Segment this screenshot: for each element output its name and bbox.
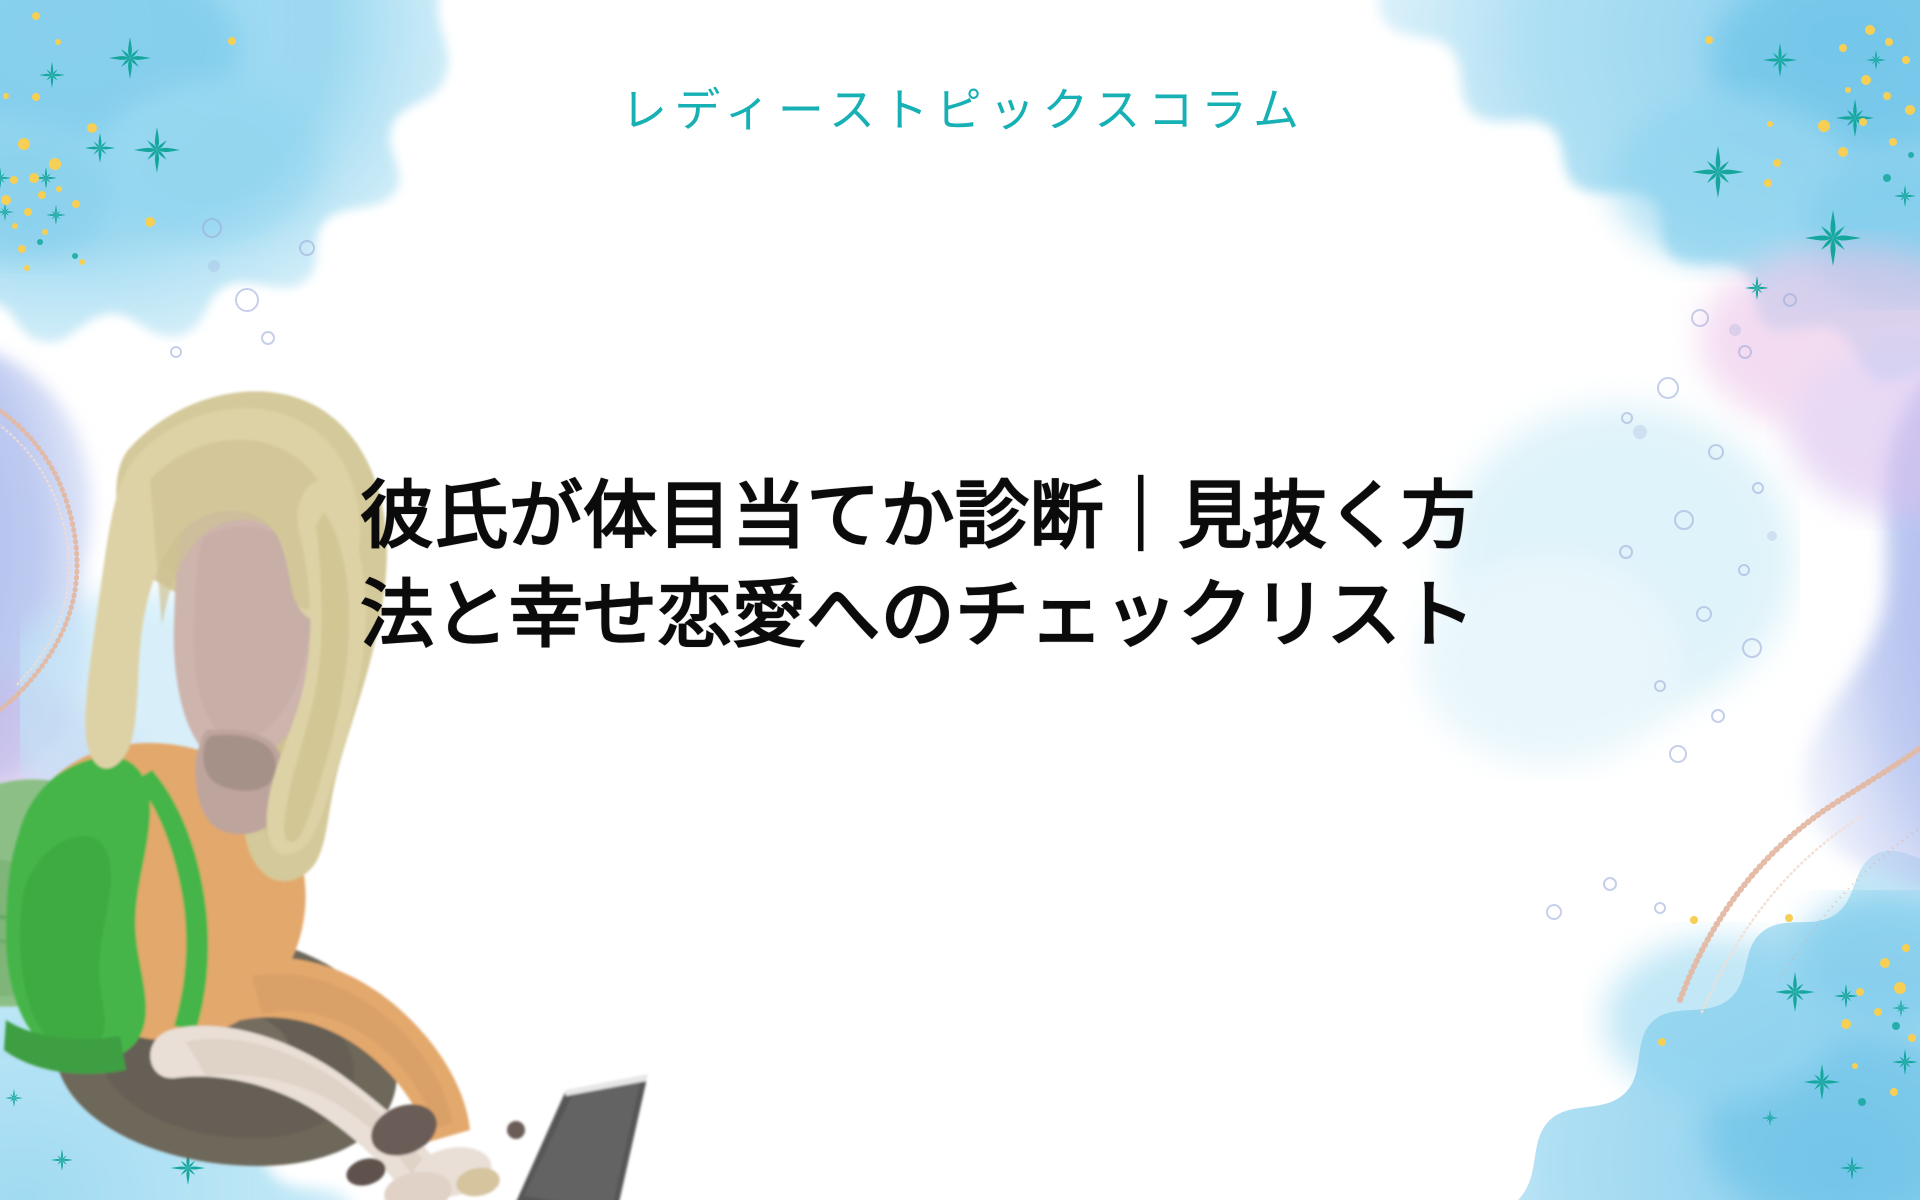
glitter-line-mid-right (1640, 620, 1920, 1020)
headline-line-2: 法と幸せ恋愛へのチェックリスト (360, 577, 1590, 654)
watercolor-bottom-right-detail (1530, 890, 1920, 1200)
illustration-woman-laptop (0, 330, 700, 1200)
watercolor-top-right-detail (1530, 0, 1920, 310)
watercolor-mid-right-pink (1670, 230, 1920, 530)
kicker-text: レディーストピックスコラム (614, 74, 1307, 140)
page-title: 彼氏が体目当てか診断｜見抜く方 法と幸せ恋愛へのチェックリスト (360, 478, 1590, 654)
watercolor-top-left-detail (0, 0, 380, 290)
headline-line-1: 彼氏が体目当てか診断｜見抜く方 (360, 478, 1590, 555)
kicker-label: レディーストピックスコラム (0, 74, 1920, 140)
watercolor-bottom-right (1380, 810, 1920, 1200)
watercolor-top-right (1370, 0, 1920, 420)
watercolor-top-left (0, 0, 500, 370)
eyecatch-canvas: レディーストピックスコラム 彼氏が体目当てか診断｜見抜く方 法と幸せ恋愛へのチェ… (0, 0, 1920, 1200)
watercolor-mid-right-periwinkle (1610, 280, 1920, 900)
